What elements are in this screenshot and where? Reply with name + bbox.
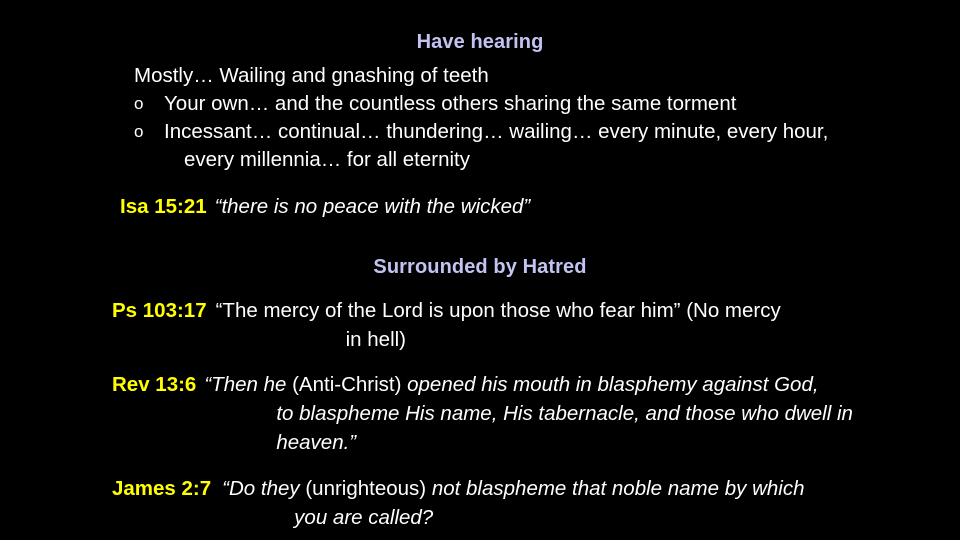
- verse-james: James 2:7 “Do they (unrighteous) not bla…: [0, 457, 960, 532]
- list-item: o Your own… and the countless others sha…: [134, 90, 960, 118]
- list-item-line: Incessant… continual… thundering… wailin…: [164, 120, 828, 143]
- verse-quote: “Then he (Anti-Christ) opened his mouth …: [204, 370, 960, 457]
- list-item-text: Incessant… continual… thundering… wailin…: [164, 118, 960, 174]
- circle-bullet-icon: o: [134, 118, 164, 146]
- verse-quote: “Do they (unrighteous) not blaspheme tha…: [222, 474, 960, 532]
- section-heading-surrounded-by-hatred: Surrounded by Hatred: [0, 256, 960, 279]
- verse-isaiah: Isa 15:21 “there is no peace with the wi…: [0, 174, 960, 222]
- verse-quote-line-continued: in hell): [216, 325, 960, 354]
- list-item-line: Your own… and the countless others shari…: [164, 92, 736, 115]
- verse-reference: Isa 15:21: [120, 192, 215, 222]
- verse-quote-segment: not blaspheme that noble name by which: [426, 477, 804, 500]
- verse-revelation: Rev 13:6 “Then he (Anti-Christ) opened h…: [0, 354, 960, 457]
- verse-quote-line-continued: heaven.”: [204, 428, 960, 457]
- list-item: o Incessant… continual… thundering… wail…: [134, 118, 960, 174]
- lead-line-mostly: Mostly… Wailing and gnashing of teeth: [134, 61, 960, 90]
- section-heading-have-hearing: Have hearing: [0, 0, 960, 54]
- list-item-line-continued: every millennia… for all eternity: [164, 146, 960, 174]
- verse-quote-line-continued: you are called?: [222, 503, 960, 532]
- verse-psalm: Ps 103:17 “The mercy of the Lord is upon…: [0, 279, 960, 354]
- verse-quote-segment: “Then he: [204, 373, 292, 396]
- list-item-text: Your own… and the countless others shari…: [164, 90, 960, 118]
- verse-quote-segment: “Do they: [222, 477, 305, 500]
- verse-quote-parenthetical: (unrighteous): [305, 477, 426, 500]
- verse-quote-line: “The mercy of the Lord is upon those who…: [216, 299, 781, 322]
- verse-quote: “The mercy of the Lord is upon those who…: [216, 296, 960, 354]
- section-one-body: Mostly… Wailing and gnashing of teeth o …: [0, 54, 960, 174]
- section-two-heading-wrap: Surrounded by Hatred: [0, 222, 960, 279]
- slide-canvas: Have hearing Mostly… Wailing and gnashin…: [0, 0, 960, 540]
- verse-reference: Rev 13:6: [112, 370, 204, 400]
- verse-quote: “there is no peace with the wicked”: [215, 192, 960, 221]
- circle-bullet-icon: o: [134, 90, 164, 118]
- verse-quote-segment: opened his mouth in blasphemy against Go…: [401, 373, 818, 396]
- verse-quote-parenthetical: (Anti-Christ): [292, 373, 401, 396]
- verse-reference: James 2:7: [112, 474, 222, 504]
- verse-reference: Ps 103:17: [112, 296, 216, 326]
- verse-quote-line-continued: to blaspheme His name, His tabernacle, a…: [204, 399, 960, 428]
